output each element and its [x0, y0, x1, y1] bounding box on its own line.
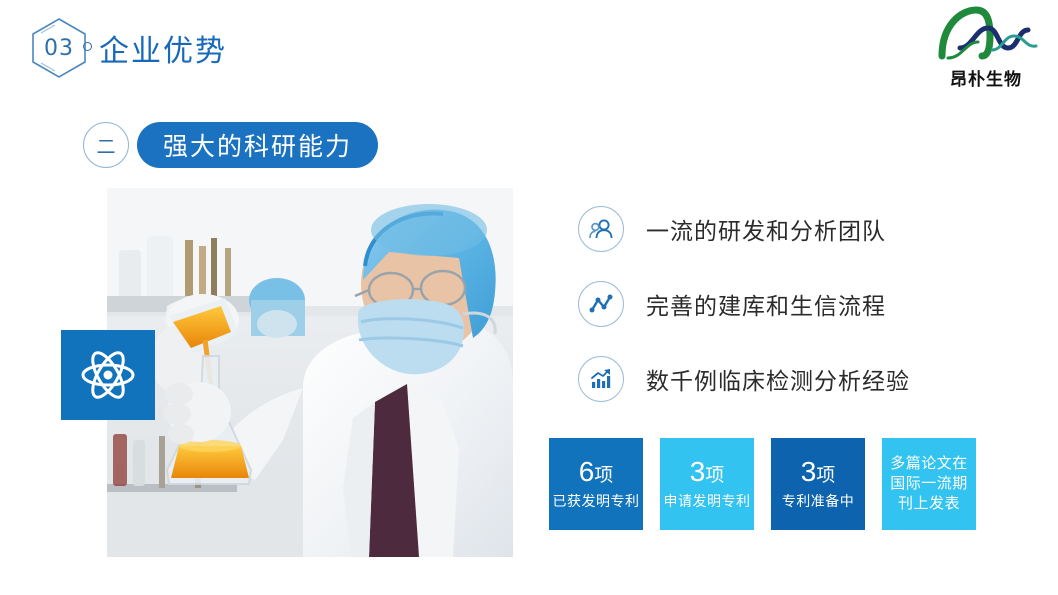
stat-text: 多篇论文在国际一流期刊上发表	[888, 454, 970, 515]
lab-photo	[107, 188, 513, 557]
team-people-icon	[578, 206, 624, 252]
stat-caption: 已获发明专利	[553, 491, 640, 511]
feature-item: 数千例临床检测分析经验	[578, 356, 978, 402]
feature-item: 一流的研发和分析团队	[578, 206, 978, 252]
atom-icon	[80, 347, 136, 403]
feature-label: 数千例临床检测分析经验	[646, 362, 910, 396]
stat-box-publications: 多篇论文在国际一流期刊上发表	[882, 438, 976, 530]
slide-canvas: 03 企业优势 昂朴生物 二 强大的科研能力	[0, 0, 1058, 595]
atom-icon-badge	[61, 330, 155, 420]
stat-box-patents-granted: 6项 已获发明专利	[549, 438, 643, 530]
subsection-title-pill: 强大的科研能力	[137, 122, 378, 168]
stat-box-group: 6项 已获发明专利 3项 申请发明专利 3项 专利准备中 多篇论文在国际一流期刊…	[549, 438, 976, 530]
stat-value: 3项	[690, 457, 725, 486]
feature-label: 完善的建库和生信流程	[646, 287, 886, 321]
stat-value: 3项	[801, 457, 836, 486]
small-circle-icon	[83, 42, 92, 51]
stat-box-patents-applied: 3项 申请发明专利	[660, 438, 754, 530]
section-number: 03	[27, 16, 91, 80]
stat-number: 3	[801, 456, 817, 487]
subsection-heading: 二 强大的科研能力	[83, 122, 378, 168]
feature-label: 一流的研发和分析团队	[646, 212, 886, 246]
feature-list: 一流的研发和分析团队 完善的建库和生信流程	[578, 206, 978, 431]
stat-unit: 项	[594, 465, 613, 486]
bar-chart-growth-icon	[578, 356, 624, 402]
stat-caption: 专利准备中	[782, 491, 855, 511]
stat-number: 3	[690, 456, 706, 487]
page-title: 企业优势	[99, 26, 227, 70]
stat-unit: 项	[705, 465, 724, 486]
line-chart-icon	[578, 281, 624, 327]
stat-box-patents-pending: 3项 专利准备中	[771, 438, 865, 530]
feature-item: 完善的建库和生信流程	[578, 281, 978, 327]
logo-text: 昂朴生物	[932, 65, 1040, 90]
company-logo: 昂朴生物	[932, 6, 1040, 86]
stat-value: 6项	[579, 457, 614, 486]
stat-number: 6	[579, 456, 595, 487]
wave-monogram-logo-icon	[932, 6, 1040, 64]
slide-header: 03 企业优势 昂朴生物	[0, 0, 1058, 95]
stat-caption: 申请发明专利	[664, 491, 751, 511]
stat-unit: 项	[816, 465, 835, 486]
subsection-index-badge: 二	[83, 122, 129, 168]
